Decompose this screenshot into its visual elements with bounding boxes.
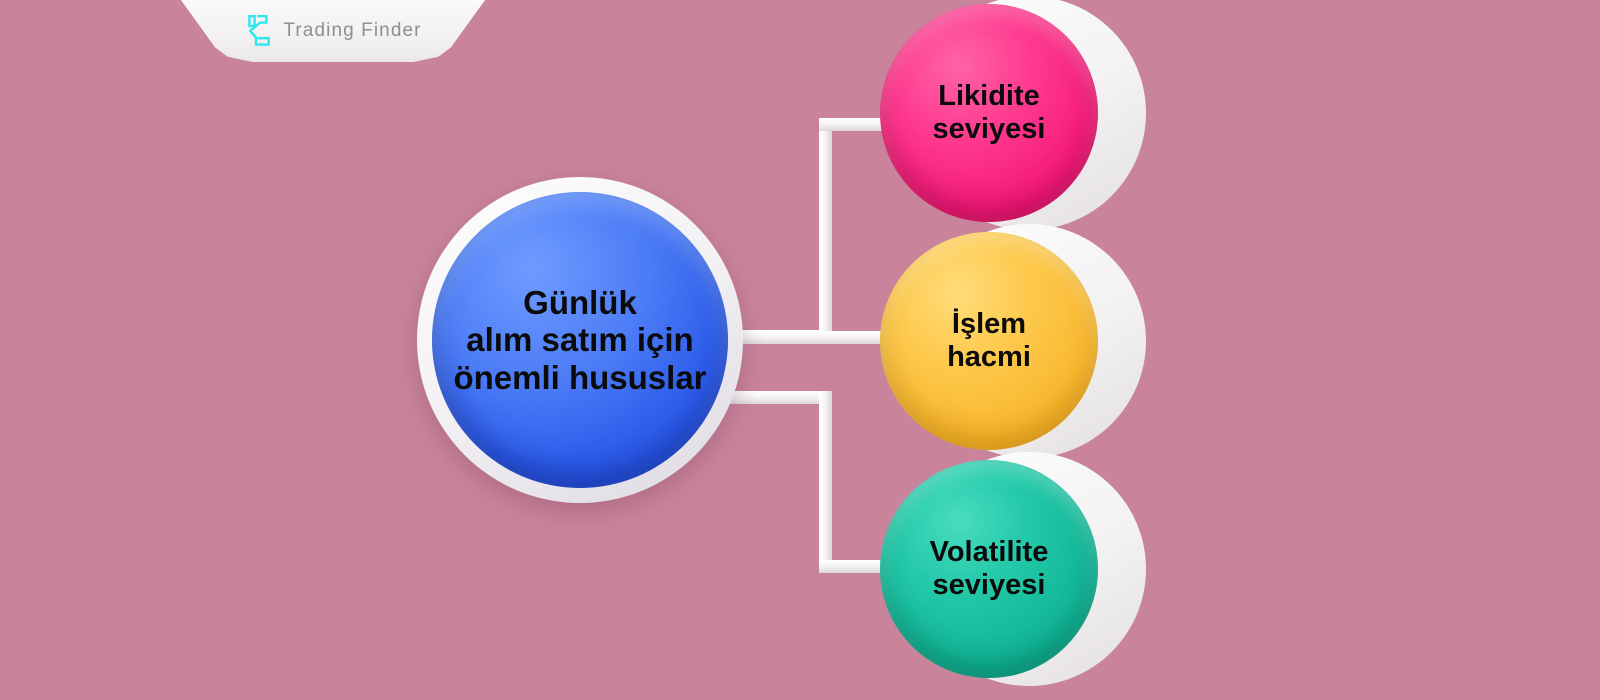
node-center[interactable]: Günlük alım satım için önemli hususlar: [417, 177, 743, 503]
node-likidite[interactable]: Likidite seviyesi: [880, 0, 1130, 238]
connector-bottom-horizontal-inner: [728, 391, 832, 404]
trading-finder-logo-icon: [244, 14, 274, 48]
brand-name: Trading Finder: [283, 20, 421, 42]
node-islem-hacmi[interactable]: İşlem hacmi: [880, 216, 1130, 466]
brand-tab: Trading Finder: [178, 0, 488, 62]
center-disc: Günlük alım satım için önemli hususlar: [432, 192, 728, 488]
connector-bottom-vertical: [819, 391, 832, 573]
connector-top-vertical: [819, 118, 832, 343]
islem-hacmi-disc: İşlem hacmi: [880, 232, 1098, 450]
likidite-label: Likidite seviyesi: [933, 80, 1046, 146]
volatilite-disc: Volatilite seviyesi: [880, 460, 1098, 678]
volatilite-label: Volatilite seviyesi: [930, 536, 1049, 602]
islem-hacmi-label: İşlem hacmi: [947, 308, 1031, 374]
center-label: Günlük alım satım için önemli hususlar: [453, 284, 706, 397]
node-volatilite[interactable]: Volatilite seviyesi: [880, 444, 1130, 694]
likidite-disc: Likidite seviyesi: [880, 4, 1098, 222]
